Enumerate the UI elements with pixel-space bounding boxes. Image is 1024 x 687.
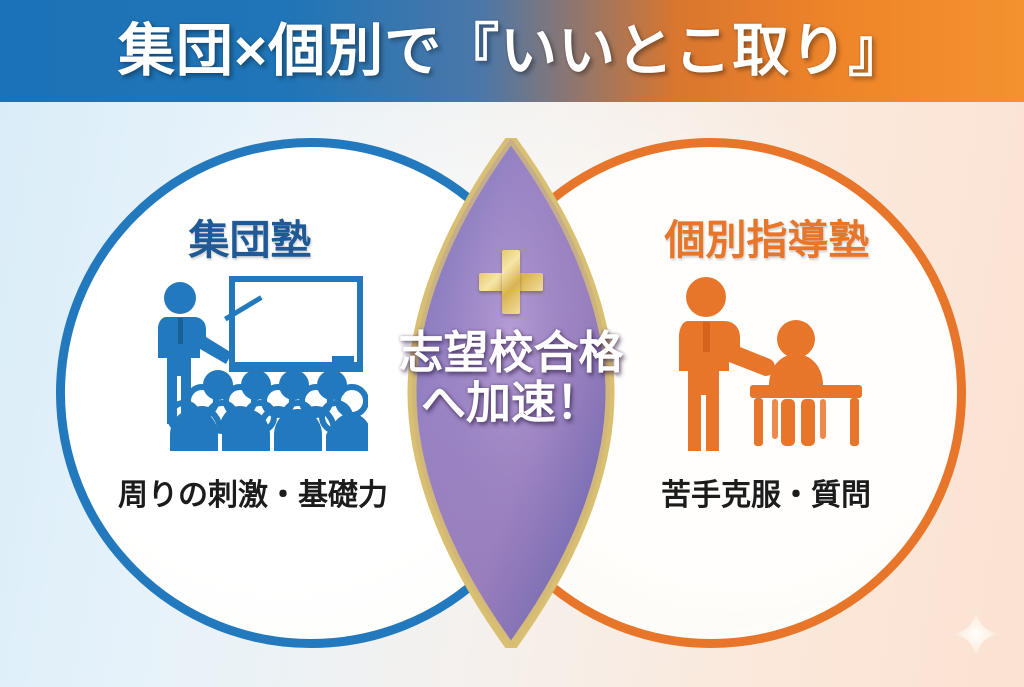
venn-stage: 志望校合格 へ加速！ 集団塾 — [0, 102, 1024, 687]
group-cram-school-caption: 周りの刺激・基礎力 — [118, 470, 388, 514]
infographic-canvas: 集団×個別で『いいとこ取り』 — [0, 0, 1024, 687]
classroom-lecture-icon — [136, 273, 368, 456]
sparkle-icon — [948, 606, 1004, 662]
individual-tutoring-caption: 苦手克服・質問 — [661, 470, 871, 514]
group-cram-school-title: 集団塾 — [189, 220, 312, 261]
individual-tutoring-title: 個別指導塾 — [665, 220, 870, 261]
one-on-one-tutoring-icon — [664, 273, 870, 456]
page-title: 集団×個別で『いいとこ取り』 — [118, 23, 906, 80]
individual-tutoring-panel: 個別指導塾 — [456, 138, 966, 648]
header-band: 集団×個別で『いいとこ取り』 — [0, 0, 1024, 102]
